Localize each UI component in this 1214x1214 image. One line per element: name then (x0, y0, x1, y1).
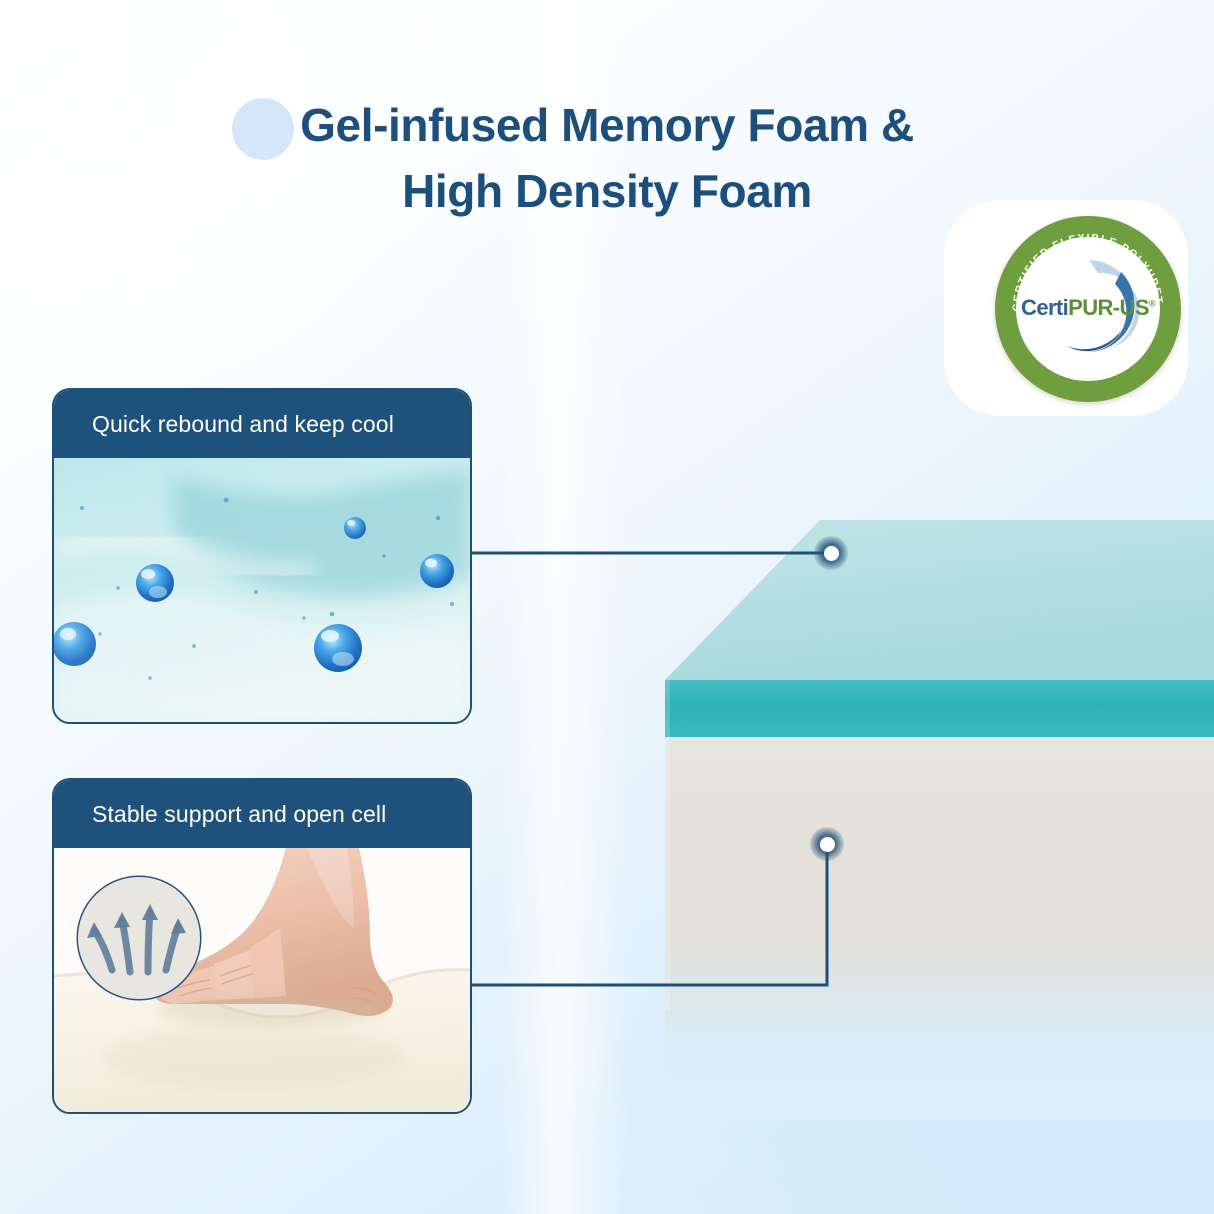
water-droplet-icon (314, 624, 362, 672)
feature-card-support[interactable]: Stable support and open cell (52, 778, 472, 1114)
badge-certi-text: Certi (1021, 295, 1068, 320)
water-droplet-icon (420, 554, 454, 588)
marker-base-layer[interactable] (810, 827, 844, 861)
feature-card-rebound-title: Quick rebound and keep cool (92, 411, 394, 438)
water-droplet-icon (344, 517, 366, 539)
water-droplet-icon (136, 564, 174, 602)
svg-text:WWW.CERTIPUR.US: WWW.CERTIPUR.US (1030, 335, 1147, 376)
certipur-us-badge: CONTAINS CERTIFIED FLEXIBLE POLYURETHANE… (995, 216, 1181, 402)
open-cell-airflow-inset (78, 877, 200, 999)
badge-center-text: CertiPUR-US® (995, 295, 1181, 321)
badge-purus-text: PUR-US (1068, 295, 1149, 320)
page-title-line-1: Gel-infused Memory Foam & (0, 92, 1214, 158)
infographic-canvas: Gel-infused Memory Foam & High Density F… (0, 0, 1214, 1214)
foam-block-illustration (620, 500, 1214, 1120)
feature-card-support-title: Stable support and open cell (92, 801, 386, 828)
badge-arc-bottom-text: WWW.CERTIPUR.US (1030, 335, 1147, 376)
feature-card-rebound[interactable]: Quick rebound and keep cool (52, 388, 472, 724)
badge-registered-mark: ® (1149, 299, 1155, 309)
water-droplet-icon (54, 622, 96, 666)
feature-card-rebound-header: Quick rebound and keep cool (54, 390, 470, 458)
feature-card-support-header: Stable support and open cell (54, 780, 470, 848)
foam-base-fade (665, 930, 1214, 1120)
feature-card-support-photo (54, 848, 470, 1112)
feature-card-rebound-photo (54, 458, 470, 722)
marker-gel-layer[interactable] (814, 536, 848, 570)
